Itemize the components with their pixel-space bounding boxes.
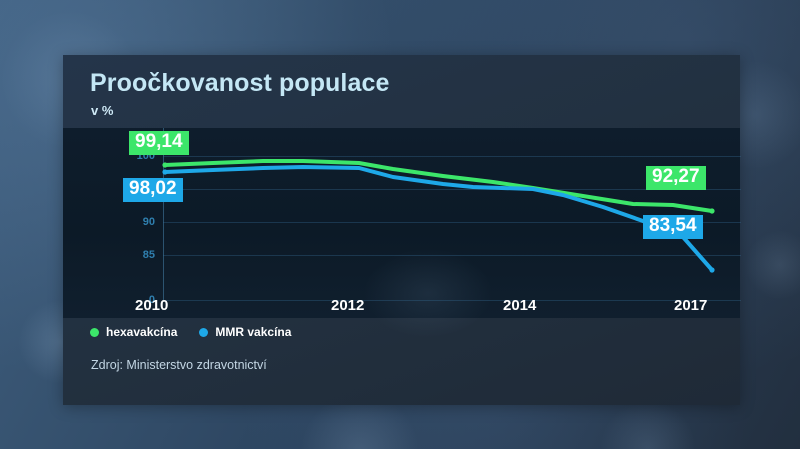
chart-panel: Proočkovanost populace v % 100 95 90 85 … xyxy=(63,55,740,405)
series-point-hexavakcina-end xyxy=(709,208,714,213)
screenshot-root: Proočkovanost populace v % 100 95 90 85 … xyxy=(0,0,800,449)
background-bokeh xyxy=(745,230,800,300)
x-tick-2017: 2017 xyxy=(674,297,707,314)
dot-icon xyxy=(90,328,99,337)
series-point-mmr-end xyxy=(709,267,714,272)
legend-label-hexavakcina: hexavakcína xyxy=(106,325,177,339)
legend-item-mmr[interactable]: MMR vakcína xyxy=(199,325,291,339)
value-label-mmr-end: 83,54 xyxy=(643,215,703,239)
line-chart-svg xyxy=(63,55,740,405)
background-bokeh xyxy=(600,400,696,449)
series-point-hexavakcina-start xyxy=(162,162,167,167)
chart-source: Zdroj: Ministerstvo zdravotnictví xyxy=(91,358,267,372)
x-tick-2014: 2014 xyxy=(503,297,536,314)
x-tick-2012: 2012 xyxy=(331,297,364,314)
chart-legend: hexavakcína MMR vakcína xyxy=(90,325,291,339)
dot-icon xyxy=(199,328,208,337)
value-label-hexavakcina-start: 99,14 xyxy=(129,131,189,155)
series-line-mmr xyxy=(165,167,712,270)
legend-item-hexavakcina[interactable]: hexavakcína xyxy=(90,325,177,339)
series-point-mmr-start xyxy=(162,169,167,174)
value-label-mmr-start: 98,02 xyxy=(123,178,183,202)
x-tick-2010: 2010 xyxy=(135,297,168,314)
value-label-hexavakcina-end: 92,27 xyxy=(646,166,706,190)
legend-label-mmr: MMR vakcína xyxy=(215,325,291,339)
